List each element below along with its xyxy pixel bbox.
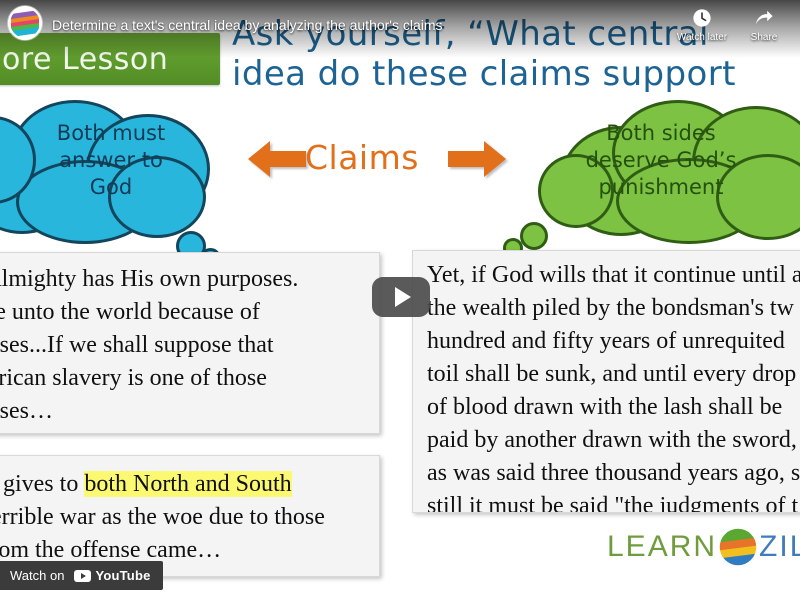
clock-icon [674, 8, 730, 30]
watch-on-label: Watch on [10, 568, 64, 583]
youtube-brand-label: YouTube [95, 568, 150, 583]
share-button[interactable]: Share [736, 8, 792, 43]
watch-on-youtube-button[interactable]: Watch on YouTube [0, 561, 163, 590]
core-lesson-banner-text: ore Lesson [0, 42, 168, 77]
quote-box-left-bottom: He gives to both North and South s terri… [0, 455, 380, 577]
quote-line: fenses...If we shall suppose that [0, 329, 379, 362]
quote-box-left-top: e Almighty has His own purposes. Voe unt… [0, 252, 380, 434]
thought-cloud-green: Both sides deserve God’s punishment [520, 100, 800, 240]
quote-line: still it must be said "the judgments of … [427, 490, 800, 513]
quote-line: s terrible war as the woe due to those [0, 501, 379, 534]
play-button[interactable] [372, 277, 430, 317]
quote-line: fenses… [0, 395, 379, 428]
arrow-left-icon [248, 138, 306, 180]
quote-line: of blood drawn with the lash shall be [427, 391, 800, 424]
video-title[interactable]: Determine a text's central idea by analy… [52, 17, 443, 33]
quote-line: Voe unto the world because of [0, 296, 379, 329]
quote-line-highlighted: He gives to both North and South [0, 468, 379, 501]
core-lesson-banner: ore Lesson [0, 33, 220, 85]
quote-box-right: Yet, if God wills that it continue until… [412, 250, 800, 513]
quote-line: merican slavery is one of those [0, 362, 379, 395]
quote-line: hundred and fifty years of unrequited [427, 325, 800, 358]
share-label: Share [736, 32, 792, 43]
learnzillion-logo: LEARN ZIL [607, 527, 800, 567]
highlighted-phrase: both North and South [84, 471, 291, 497]
play-triangle-icon [395, 287, 411, 307]
youtube-play-icon [74, 570, 91, 582]
quote-line: the wealth piled by the bondsman's tw [427, 292, 800, 325]
slide-title-line-2: idea do these claims support [232, 54, 800, 94]
quote-line: e Almighty has His own purposes. [0, 263, 379, 296]
channel-avatar[interactable] [8, 6, 42, 40]
quote-line-prefix: He gives to [0, 471, 84, 497]
youtube-brand-badge: YouTube [74, 568, 150, 583]
learnzillion-logo-word-2: ZIL [759, 530, 800, 564]
quote-line: Yet, if God wills that it continue until… [427, 259, 800, 292]
quote-line: as was said three thousand years ago, s [427, 457, 800, 490]
watch-later-button[interactable]: Watch later [674, 8, 730, 43]
arrow-right-icon [448, 138, 506, 180]
learnzillion-globe-icon [718, 527, 758, 567]
thought-cloud-blue-text: Both must answer to God [0, 120, 238, 201]
claims-label: Claims [305, 138, 419, 177]
share-icon [736, 8, 792, 30]
thought-bubble-green-large [520, 222, 548, 250]
video-player-stage[interactable]: ore Lesson Ask yourself, “What central i… [0, 0, 800, 600]
learnzillion-avatar-icon [8, 6, 42, 40]
watch-later-label: Watch later [674, 32, 730, 43]
thought-cloud-green-text: Both sides deserve God’s punishment [520, 120, 800, 201]
learnzillion-logo-word-1: LEARN [607, 530, 717, 564]
thought-cloud-blue: Both must answer to God [0, 98, 238, 238]
quote-line: toil shall be sunk, and until every drop [427, 358, 800, 391]
quote-line: paid by another drawn with the sword, [427, 424, 800, 457]
